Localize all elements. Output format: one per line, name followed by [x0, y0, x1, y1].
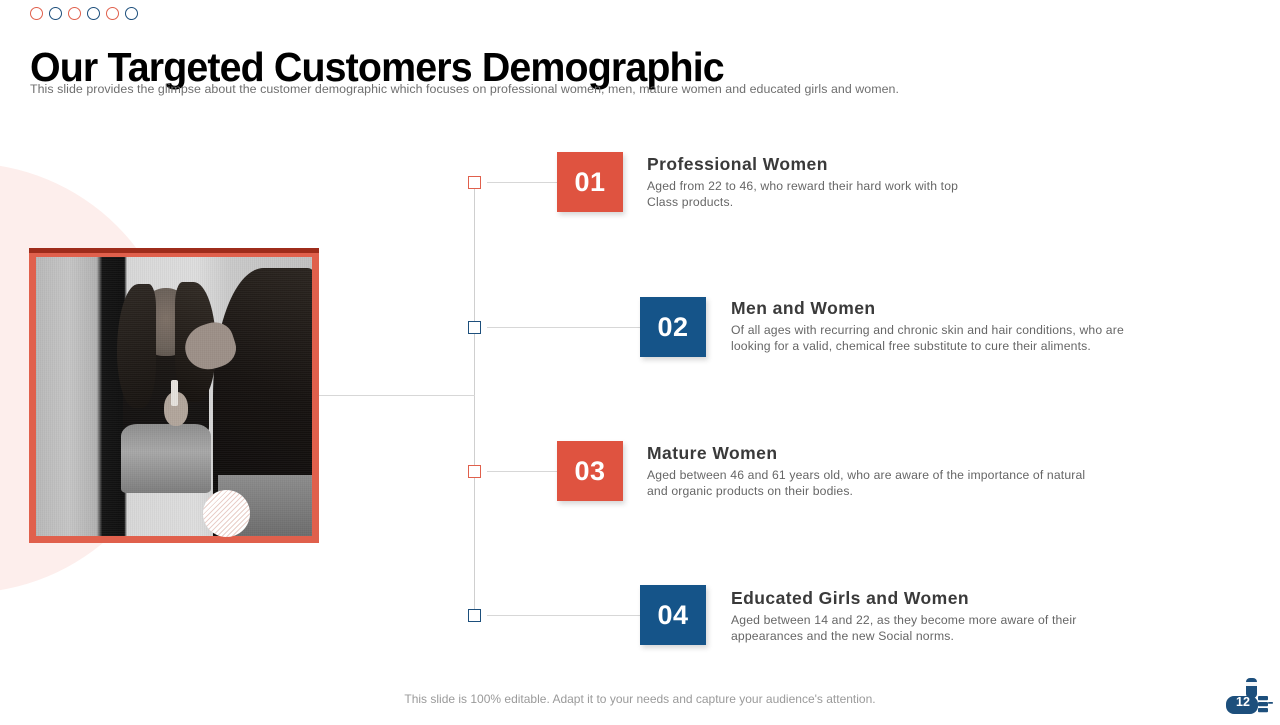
dot-6-icon — [125, 7, 138, 20]
dot-3-icon — [68, 7, 81, 20]
item-3-title: Mature Women — [647, 443, 1147, 464]
connector-item-4 — [487, 615, 640, 616]
page-number-badge: 12 — [1222, 676, 1274, 720]
decorative-dots-row — [30, 7, 138, 20]
item-1-number-badge: 01 — [557, 152, 623, 212]
node-item-4[interactable] — [468, 609, 481, 622]
dot-5-icon — [106, 7, 119, 20]
item-4-description: Aged between 14 and 22, as they become m… — [731, 613, 1171, 645]
item-1-description: Aged from 22 to 46, who reward their har… — [647, 179, 1167, 211]
photo-product-bottle — [171, 380, 178, 406]
photo-mirror-subject — [119, 288, 213, 489]
node-item-2[interactable] — [468, 321, 481, 334]
striped-circle-accent — [203, 490, 250, 537]
item-2-number: 02 — [657, 312, 688, 343]
photo-subject-hair-left — [117, 284, 156, 409]
photo-subject-jeans — [121, 424, 211, 492]
item-1-number: 01 — [574, 167, 605, 198]
connector-item-3 — [487, 471, 557, 472]
timeline-spine — [474, 182, 475, 615]
item-3-number-badge: 03 — [557, 441, 623, 501]
connector-item-1 — [487, 182, 557, 183]
item-2-description: Of all ages with recurring and chronic s… — [731, 323, 1171, 355]
item-4-number: 04 — [657, 600, 688, 631]
page-subtitle: This slide provides the glimpse about th… — [30, 82, 899, 96]
footer-note: This slide is 100% editable. Adapt it to… — [0, 692, 1280, 706]
item-3-description: Aged between 46 and 61 years old, who ar… — [647, 468, 1147, 500]
customer-photo-frame — [29, 248, 319, 543]
item-4-text: Educated Girls and Women Aged between 14… — [731, 588, 1171, 645]
dot-2-icon — [49, 7, 62, 20]
page-number: 12 — [1230, 695, 1256, 709]
item-4-number-badge: 04 — [640, 585, 706, 645]
item-2-number-badge: 02 — [640, 297, 706, 357]
node-item-1[interactable] — [468, 176, 481, 189]
item-4-title: Educated Girls and Women — [731, 588, 1171, 609]
dot-4-icon — [87, 7, 100, 20]
connector-item-2 — [487, 327, 640, 328]
node-item-3[interactable] — [468, 465, 481, 478]
item-2-title: Men and Women — [731, 298, 1171, 319]
item-3-number: 03 — [574, 456, 605, 487]
customer-photo — [36, 257, 312, 536]
connector-photo-to-spine — [318, 395, 475, 396]
dot-1-icon — [30, 7, 43, 20]
item-3-text: Mature Women Aged between 46 and 61 year… — [647, 443, 1147, 500]
item-1-title: Professional Women — [647, 154, 1167, 175]
item-2-text: Men and Women Of all ages with recurring… — [731, 298, 1171, 355]
item-1-text: Professional Women Aged from 22 to 46, w… — [647, 154, 1167, 211]
